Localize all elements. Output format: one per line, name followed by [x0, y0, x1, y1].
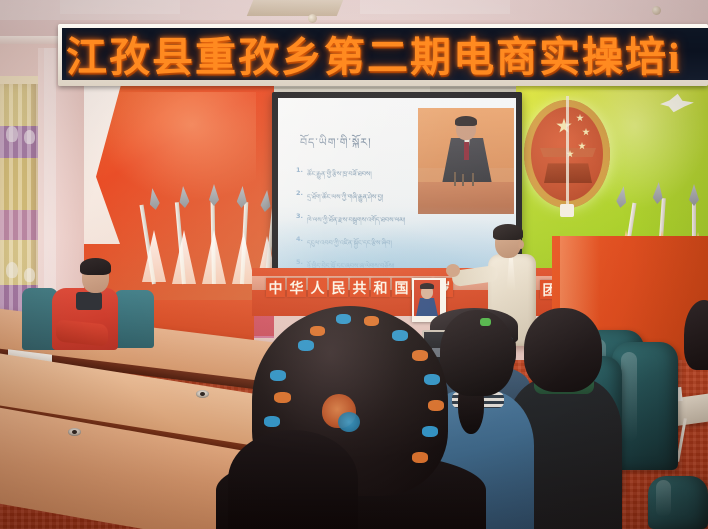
ceiling-spotlight — [308, 14, 317, 23]
curtain-motif — [24, 268, 35, 282]
banner-title: 江孜县重孜乡第二期电商实操培i — [66, 26, 708, 80]
slogan-char: 和 — [371, 278, 390, 297]
curtain-motif — [24, 130, 35, 144]
portrait-hair — [420, 283, 434, 289]
instructor-ear — [518, 240, 524, 249]
instructor-hand — [446, 264, 460, 277]
slogan-char: 民 — [329, 278, 348, 297]
cable-grommet[interactable] — [196, 390, 209, 398]
flagpole-spear-tip — [147, 187, 160, 210]
flagpole-spear-tip — [689, 184, 699, 206]
track-light-fixture — [247, 0, 343, 16]
instructor-hair — [493, 224, 523, 240]
wall-switch-box — [560, 204, 574, 217]
scarf-attendee-head — [524, 308, 602, 392]
slogan-char: 国 — [392, 278, 411, 297]
front-attendee-head — [228, 430, 358, 529]
projector-glare — [278, 98, 516, 268]
curtain-motif — [6, 126, 18, 142]
curtain-motif — [6, 262, 18, 278]
slogan-char: 共 — [350, 278, 369, 297]
bob-attendee-head — [440, 310, 514, 396]
mural-glow — [96, 92, 256, 202]
slogan-char: 人 — [308, 278, 327, 297]
bob-attendee-hair-clip — [480, 318, 491, 326]
ceiling-panel — [360, 0, 510, 14]
ceiling-spotlight — [652, 6, 661, 15]
cable-grommet[interactable] — [68, 428, 81, 436]
furled-flag — [202, 230, 226, 284]
furled-flag — [172, 230, 196, 284]
ceiling-panel — [60, 0, 180, 14]
slogan-char: 华 — [287, 278, 306, 297]
braided-attendee-hair-ornament — [338, 412, 360, 432]
chair[interactable] — [648, 476, 708, 529]
hanging-cord — [566, 96, 569, 204]
flagpole-spear-tip — [615, 185, 628, 208]
flagpole-spear-tip — [178, 186, 190, 209]
chair[interactable] — [114, 290, 154, 348]
flagpole-group-left — [140, 188, 270, 298]
seated-attendee-hair — [80, 258, 111, 275]
seated-attendee-collar — [76, 292, 102, 310]
photograph-training-session: བོད་ཡིག་གི་སྐོར། 1. ཚོང་རྒྱུན་གྱི་རྩིས་ཁ… — [0, 0, 708, 529]
slogan-char: 中 — [266, 278, 285, 297]
